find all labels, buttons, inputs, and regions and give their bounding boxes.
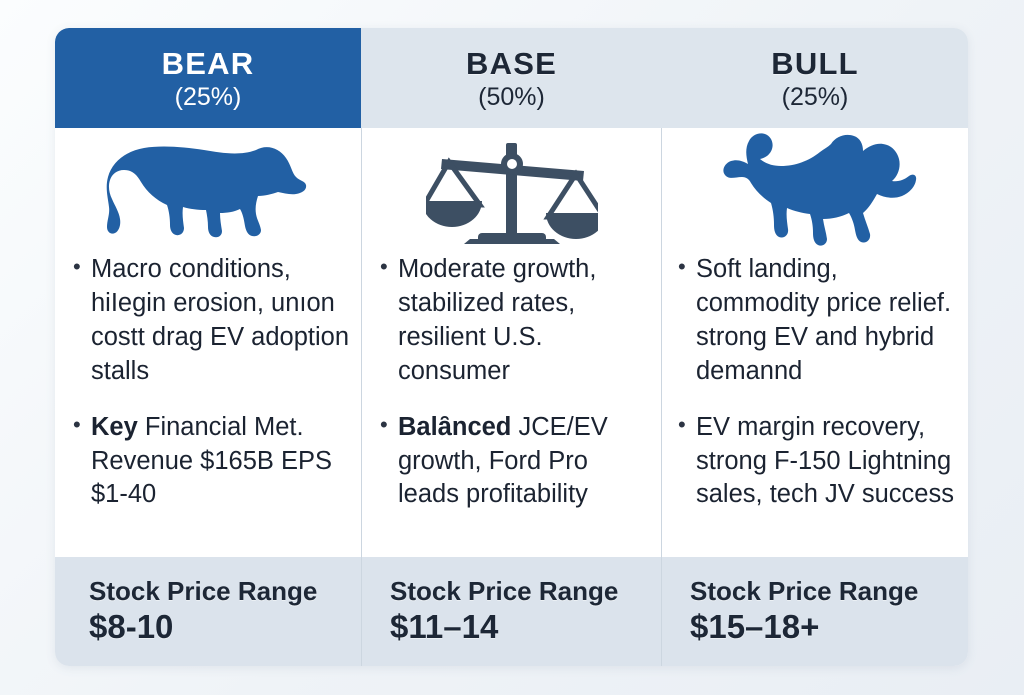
header-cell-base: BASE (50%)	[361, 28, 662, 128]
bullet-text: EV margin recovery, strong F-150 Lightni…	[696, 413, 954, 509]
scenario-footer-row: Stock Price Range $8-10 Stock Price Rang…	[55, 557, 968, 666]
header-cell-bear: BEAR (25%)	[55, 28, 361, 128]
list-item: Soft landing, commodity price relief. st…	[676, 253, 962, 389]
footer-value-bear: $8-10	[89, 608, 361, 646]
scenario-header-row: BEAR (25%) BASE (50%) BULL (25%)	[55, 28, 968, 128]
list-item: Key Financial Met. Revenue $165B EPS $1-…	[71, 411, 353, 513]
footer-label-bull: Stock Price Range	[690, 577, 968, 607]
footer-cell-bull: Stock Price Range $15–18+	[662, 557, 968, 666]
header-title-bull: BULL	[771, 48, 858, 81]
body-column-bear: Macro conditions, hiӀegin erosion, unıon…	[55, 128, 361, 557]
scenario-body-row: Macro conditions, hiӀegin erosion, unıon…	[55, 128, 968, 557]
header-probability-bull: (25%)	[782, 82, 849, 112]
bull-icon	[662, 128, 968, 253]
scenario-comparison-page: BEAR (25%) BASE (50%) BULL (25%)	[0, 0, 1024, 695]
footer-label-bear: Stock Price Range	[89, 577, 361, 607]
footer-cell-base: Stock Price Range $11–14	[361, 557, 662, 666]
scenario-card: BEAR (25%) BASE (50%) BULL (25%)	[55, 28, 968, 666]
footer-cell-bear: Stock Price Range $8-10	[55, 557, 361, 666]
header-probability-base: (50%)	[478, 82, 545, 112]
bullet-lead: Key	[91, 413, 138, 441]
bullet-lead: Balȃnced	[398, 413, 511, 441]
body-column-bull: Soft landing, commodity price relief. st…	[662, 128, 968, 557]
header-title-bear: BEAR	[162, 48, 255, 81]
bullet-list-bull: Soft landing, commodity price relief. st…	[662, 253, 968, 534]
bullet-text: Macro conditions, hiӀegin erosion, unıon…	[91, 255, 349, 385]
list-item: Balȃnced JCE/EV growth, Ford Pro leads p…	[378, 411, 653, 513]
header-probability-bear: (25%)	[175, 82, 242, 112]
list-item: EV margin recovery, strong F-150 Lightni…	[676, 411, 962, 513]
bullet-list-base: Moderate growth, stabilized rates, resil…	[362, 253, 661, 534]
balance-scale-icon	[362, 128, 661, 253]
bullet-text: Moderate growth, stabilized rates, resil…	[398, 255, 596, 385]
header-cell-bull: BULL (25%)	[662, 28, 968, 128]
header-title-base: BASE	[466, 48, 557, 81]
bullet-list-bear: Macro conditions, hiӀegin erosion, unıon…	[55, 253, 361, 534]
body-column-base: Moderate growth, stabilized rates, resil…	[361, 128, 662, 557]
list-item: Macro conditions, hiӀegin erosion, unıon…	[71, 253, 353, 389]
list-item: Moderate growth, stabilized rates, resil…	[378, 253, 653, 389]
bullet-text: Soft landing, commodity price relief. st…	[696, 255, 951, 385]
footer-value-base: $11–14	[390, 608, 661, 646]
footer-value-bull: $15–18+	[690, 608, 968, 646]
bear-icon	[55, 128, 361, 253]
footer-label-base: Stock Price Range	[390, 577, 661, 607]
